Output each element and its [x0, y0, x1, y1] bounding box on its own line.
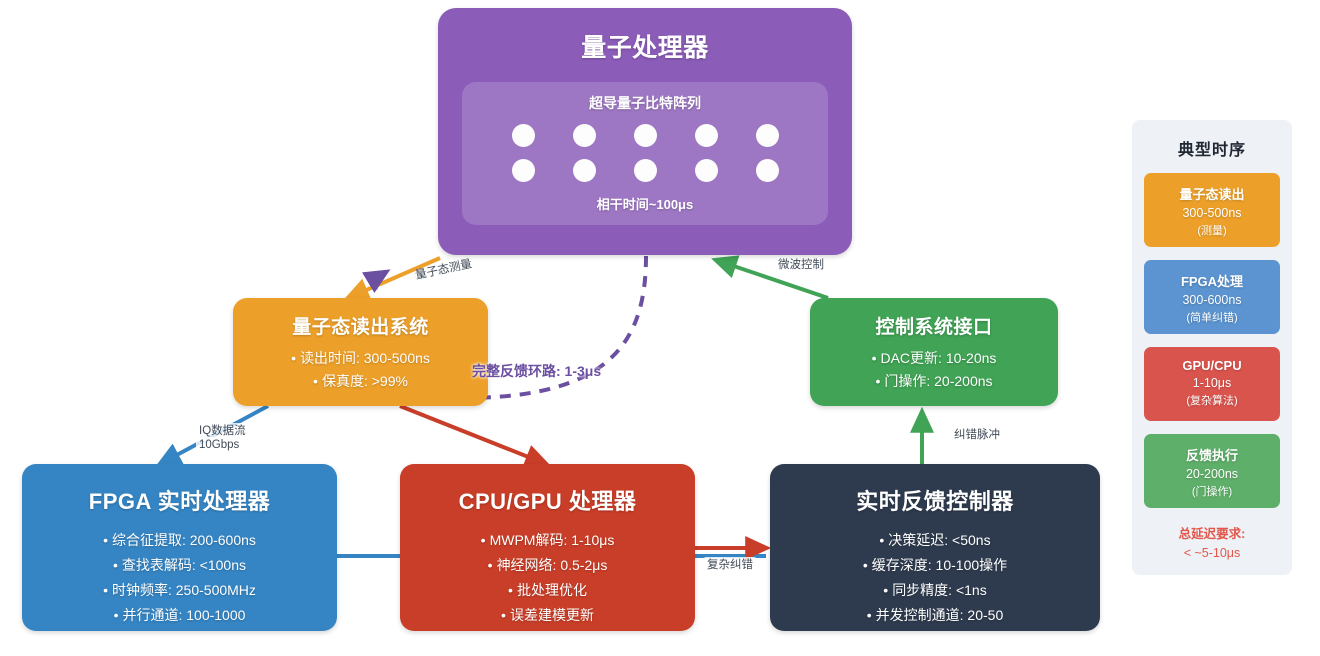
timing-card-note: (门操作) — [1144, 483, 1280, 499]
node-spec-list: 综合征提取: 200-600ns 查找表解码: <100ns 时钟频率: 250… — [22, 528, 337, 628]
timing-card-fpga[interactable]: FPGA处理 300-600ns (简单纠错) — [1144, 260, 1280, 334]
qubit-dot — [634, 159, 657, 182]
timing-card-readout[interactable]: 量子态读出 300-500ns (测量) — [1144, 173, 1280, 247]
node-title: CPU/GPU 处理器 — [400, 464, 695, 516]
qubit-dot — [695, 159, 718, 182]
spec-item: DAC更新: 10-20ns — [810, 347, 1058, 370]
total-latency-label: 总延迟要求: — [1132, 525, 1292, 544]
spec-item: 同步精度: <1ns — [770, 578, 1100, 603]
spec-item: 保真度: >99% — [233, 370, 488, 393]
spec-item: 综合征提取: 200-600ns — [22, 528, 337, 553]
timing-card-name: FPGA处理 — [1144, 271, 1280, 290]
node-cpu-gpu-processor[interactable]: CPU/GPU 处理器 MWPM解码: 1-10μs 神经网络: 0.5-2μs… — [400, 464, 695, 631]
timing-card-name: 量子态读出 — [1144, 184, 1280, 203]
qubit-dot — [512, 159, 535, 182]
qubit-dot — [573, 159, 596, 182]
spec-item: 神经网络: 0.5-2μs — [400, 553, 695, 578]
coherence-time-note: 相干时间~100μs — [462, 194, 828, 213]
spec-item: 门操作: 20-200ns — [810, 370, 1058, 393]
qubit-dot — [512, 124, 535, 147]
total-latency-value: < ~5-10μs — [1132, 544, 1292, 563]
timing-card-name: GPU/CPU — [1144, 358, 1280, 373]
timing-card-value: 20-200ns — [1144, 467, 1280, 481]
spec-item: 查找表解码: <100ns — [22, 553, 337, 578]
spec-item: 读出时间: 300-500ns — [233, 347, 488, 370]
timing-panel: 典型时序 量子态读出 300-500ns (测量) FPGA处理 300-600… — [1132, 120, 1292, 575]
qubit-dot — [756, 159, 779, 182]
node-control-interface[interactable]: 控制系统接口 DAC更新: 10-20ns 门操作: 20-200ns — [810, 298, 1058, 406]
spec-item: 并发控制通道: 20-50 — [770, 603, 1100, 628]
node-spec-list: 读出时间: 300-500ns 保真度: >99% — [233, 347, 488, 392]
spec-item: 批处理优化 — [400, 578, 695, 603]
edge-readout-to-cpugpu — [400, 406, 546, 464]
node-fpga-processor[interactable]: FPGA 实时处理器 综合征提取: 200-600ns 查找表解码: <100n… — [22, 464, 337, 631]
node-quantum-processor[interactable]: 量子处理器 超导量子比特阵列 相干时间~100μs — [438, 8, 852, 255]
qubit-dot — [634, 124, 657, 147]
node-spec-list: 决策延迟: <50ns 缓存深度: 10-100操作 同步精度: <1ns 并发… — [770, 528, 1100, 628]
edge-label-correction-pulse: 纠错脉冲 — [951, 427, 1003, 445]
qubit-dot — [756, 124, 779, 147]
spec-item: 并行通道: 100-1000 — [22, 603, 337, 628]
spec-item: 缓存深度: 10-100操作 — [770, 553, 1100, 578]
total-latency-block: 总延迟要求: < ~5-10μs — [1132, 525, 1292, 564]
node-spec-list: MWPM解码: 1-10μs 神经网络: 0.5-2μs 批处理优化 误差建模更… — [400, 528, 695, 628]
qubit-array-title: 超导量子比特阵列 — [462, 93, 828, 113]
spec-item: 决策延迟: <50ns — [770, 528, 1100, 553]
qubit-dot — [573, 124, 596, 147]
edge-label-microwave-control: 微波控制 — [778, 258, 824, 274]
timing-card-gpu-cpu[interactable]: GPU/CPU 1-10μs (复杂算法) — [1144, 347, 1280, 421]
spec-item: 误差建模更新 — [400, 603, 695, 628]
timing-card-note: (测量) — [1144, 222, 1280, 238]
node-realtime-feedback-controller[interactable]: 实时反馈控制器 决策延迟: <50ns 缓存深度: 10-100操作 同步精度:… — [770, 464, 1100, 631]
edge-label-iq-stream-line2: 10Gbps — [196, 437, 242, 455]
timing-card-value: 300-500ns — [1144, 206, 1280, 220]
qubit-dot — [695, 124, 718, 147]
node-title: 控制系统接口 — [810, 298, 1058, 339]
timing-panel-title: 典型时序 — [1132, 136, 1292, 160]
edge-label-complex-correction: 复杂纠错 — [704, 557, 756, 575]
qubit-row — [462, 159, 828, 182]
timing-card-feedback[interactable]: 反馈执行 20-200ns (门操作) — [1144, 434, 1280, 508]
node-title: FPGA 实时处理器 — [22, 464, 337, 516]
spec-item: 时钟频率: 250-500MHz — [22, 578, 337, 603]
node-title: 量子处理器 — [438, 8, 852, 64]
node-title: 量子态读出系统 — [233, 298, 488, 339]
qubit-row — [462, 124, 828, 147]
timing-card-value: 300-600ns — [1144, 293, 1280, 307]
node-spec-list: DAC更新: 10-20ns 门操作: 20-200ns — [810, 347, 1058, 392]
spec-item: MWPM解码: 1-10μs — [400, 528, 695, 553]
timing-card-note: (复杂算法) — [1144, 392, 1280, 408]
timing-card-value: 1-10μs — [1144, 376, 1280, 390]
edge-label-full-feedback-loop: 完整反馈环路: 1-3μs — [472, 362, 601, 381]
timing-card-name: 反馈执行 — [1144, 445, 1280, 464]
node-title: 实时反馈控制器 — [770, 464, 1100, 516]
timing-card-note: (简单纠错) — [1144, 309, 1280, 325]
node-readout-system[interactable]: 量子态读出系统 读出时间: 300-500ns 保真度: >99% — [233, 298, 488, 406]
qubit-array-panel: 超导量子比特阵列 相干时间~100μs — [462, 82, 828, 225]
diagram-canvas: 量子态测量 微波控制 IQ数据流 10Gbps 复杂纠错 纠错脉冲 完整反馈环路… — [0, 0, 1320, 656]
